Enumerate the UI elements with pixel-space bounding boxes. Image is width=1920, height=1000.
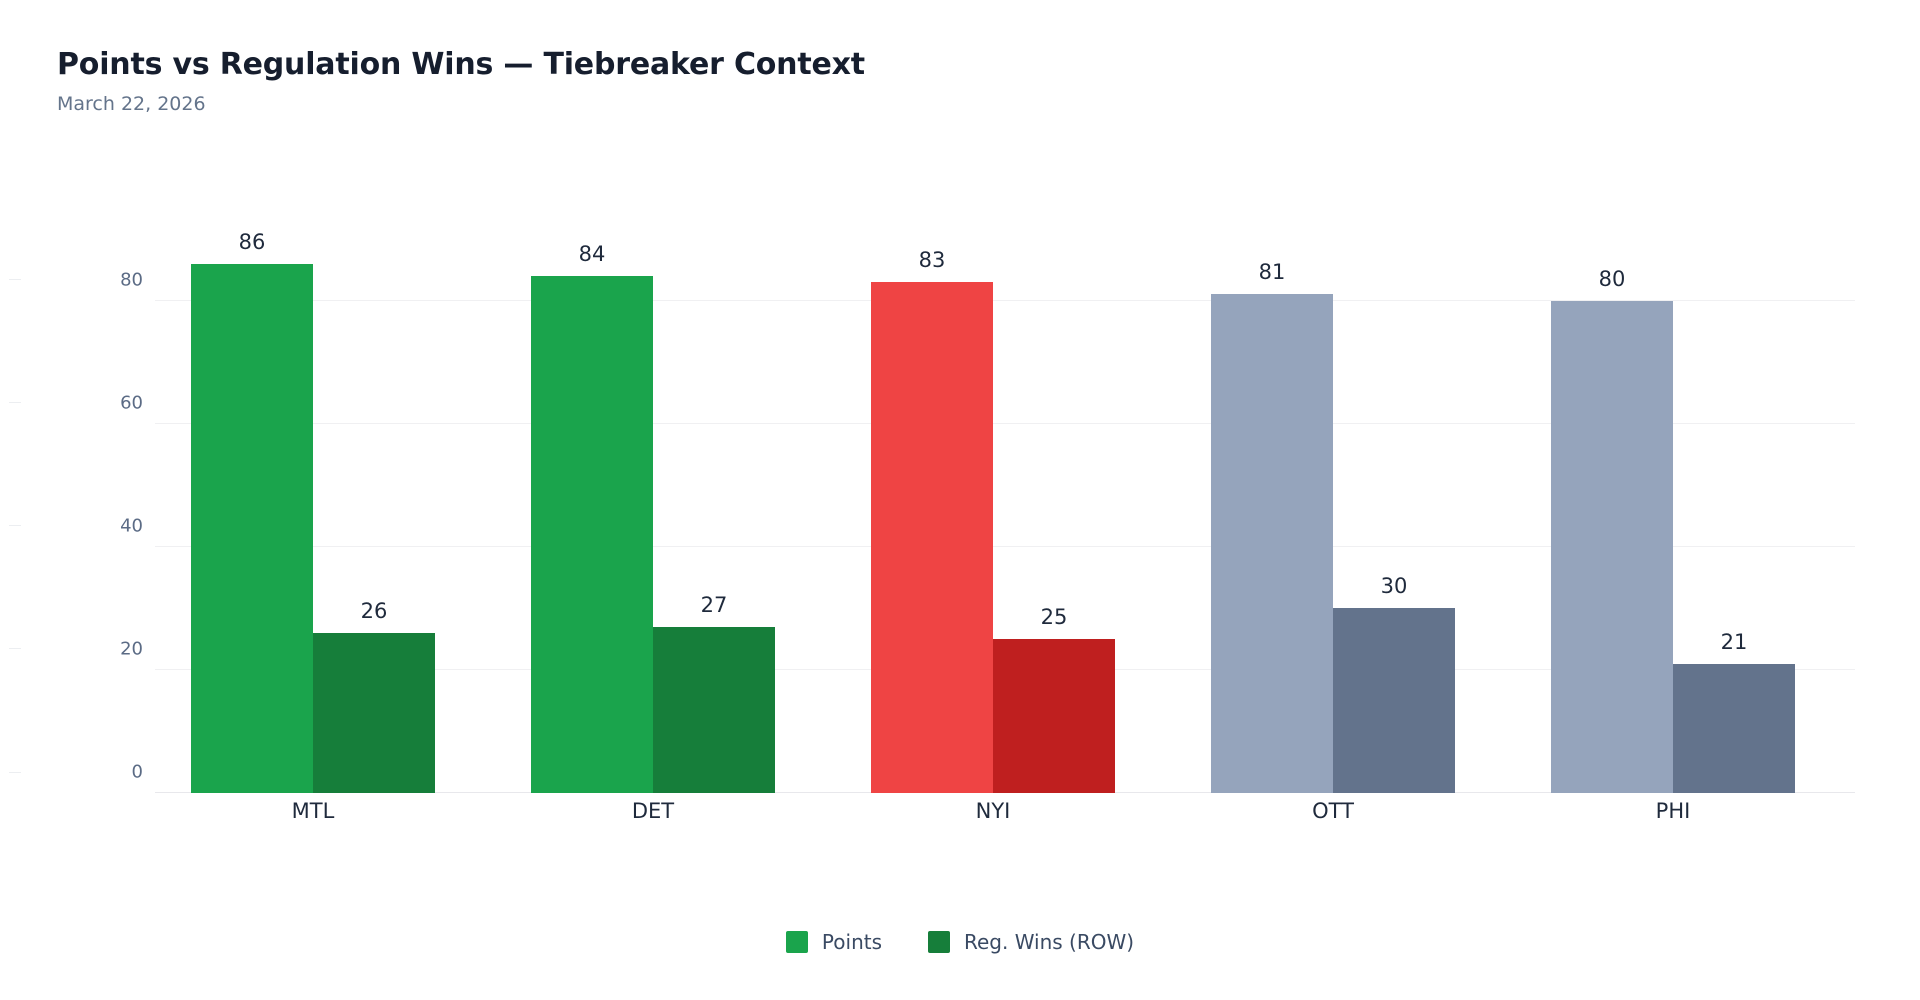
- bar-phi-points[interactable]: 80: [1551, 301, 1673, 793]
- plot-area: 020406080 8626MTL8427DET8325NYI8130OTT80…: [155, 239, 1855, 793]
- chart-header: Points vs Regulation Wins — Tiebreaker C…: [57, 48, 865, 115]
- bar-det-points[interactable]: 84: [531, 276, 653, 793]
- y-tick-label-20: 20: [23, 638, 143, 659]
- bar-group-ott: 8130OTT: [1175, 239, 1515, 793]
- bar-value-label: 83: [919, 248, 946, 272]
- chart-legend: PointsReg. Wins (ROW): [0, 930, 1920, 954]
- x-axis-label-ott: OTT: [1312, 799, 1354, 823]
- y-tick-mark-80: [9, 279, 21, 280]
- bar-ott-points[interactable]: 81: [1211, 294, 1333, 793]
- y-tick-mark-40: [9, 525, 21, 526]
- bar-phi-reg-wins[interactable]: 21: [1673, 664, 1795, 793]
- bar-ott-reg-wins[interactable]: 30: [1333, 608, 1455, 793]
- bar-group-det: 8427DET: [495, 239, 835, 793]
- bar-value-label: 86: [239, 230, 266, 254]
- chart-title: Points vs Regulation Wins — Tiebreaker C…: [57, 48, 865, 81]
- bar-value-label: 21: [1721, 630, 1748, 654]
- bar-group-mtl: 8626MTL: [155, 239, 495, 793]
- y-tick-label-40: 40: [23, 515, 143, 536]
- y-tick-label-60: 60: [23, 392, 143, 413]
- x-axis-label-nyi: NYI: [976, 799, 1011, 823]
- bar-nyi-points[interactable]: 83: [871, 282, 993, 793]
- bar-det-reg-wins[interactable]: 27: [653, 627, 775, 793]
- bar-value-label: 30: [1381, 574, 1408, 598]
- bar-group-phi: 8021PHI: [1515, 239, 1855, 793]
- y-tick-label-0: 0: [23, 762, 143, 783]
- y-tick-label-80: 80: [23, 269, 143, 290]
- legend-swatch-points-icon: [786, 931, 808, 953]
- chart-subtitle: March 22, 2026: [57, 94, 865, 115]
- bar-value-label: 26: [361, 599, 388, 623]
- legend-label: Reg. Wins (ROW): [964, 930, 1134, 954]
- legend-item-reg-wins[interactable]: Reg. Wins (ROW): [928, 930, 1134, 954]
- bar-group-nyi: 8325NYI: [835, 239, 1175, 793]
- y-tick-mark-20: [9, 648, 21, 649]
- legend-swatch-row-icon: [928, 931, 950, 953]
- bar-value-label: 84: [579, 242, 606, 266]
- legend-item-points[interactable]: Points: [786, 930, 882, 954]
- bar-nyi-reg-wins[interactable]: 25: [993, 639, 1115, 793]
- x-axis-label-mtl: MTL: [292, 799, 335, 823]
- chart-container: Points vs Regulation Wins — Tiebreaker C…: [0, 0, 1920, 1000]
- bar-groups: 8626MTL8427DET8325NYI8130OTT8021PHI: [155, 239, 1855, 793]
- bar-value-label: 25: [1041, 605, 1068, 629]
- legend-label: Points: [822, 930, 882, 954]
- y-tick-mark-0: [9, 772, 21, 773]
- x-axis-label-det: DET: [632, 799, 674, 823]
- bar-value-label: 81: [1259, 260, 1286, 284]
- x-axis-label-phi: PHI: [1656, 799, 1691, 823]
- bar-value-label: 80: [1599, 267, 1626, 291]
- bar-mtl-reg-wins[interactable]: 26: [313, 633, 435, 793]
- bar-mtl-points[interactable]: 86: [191, 264, 313, 793]
- bar-value-label: 27: [701, 593, 728, 617]
- y-tick-mark-60: [9, 402, 21, 403]
